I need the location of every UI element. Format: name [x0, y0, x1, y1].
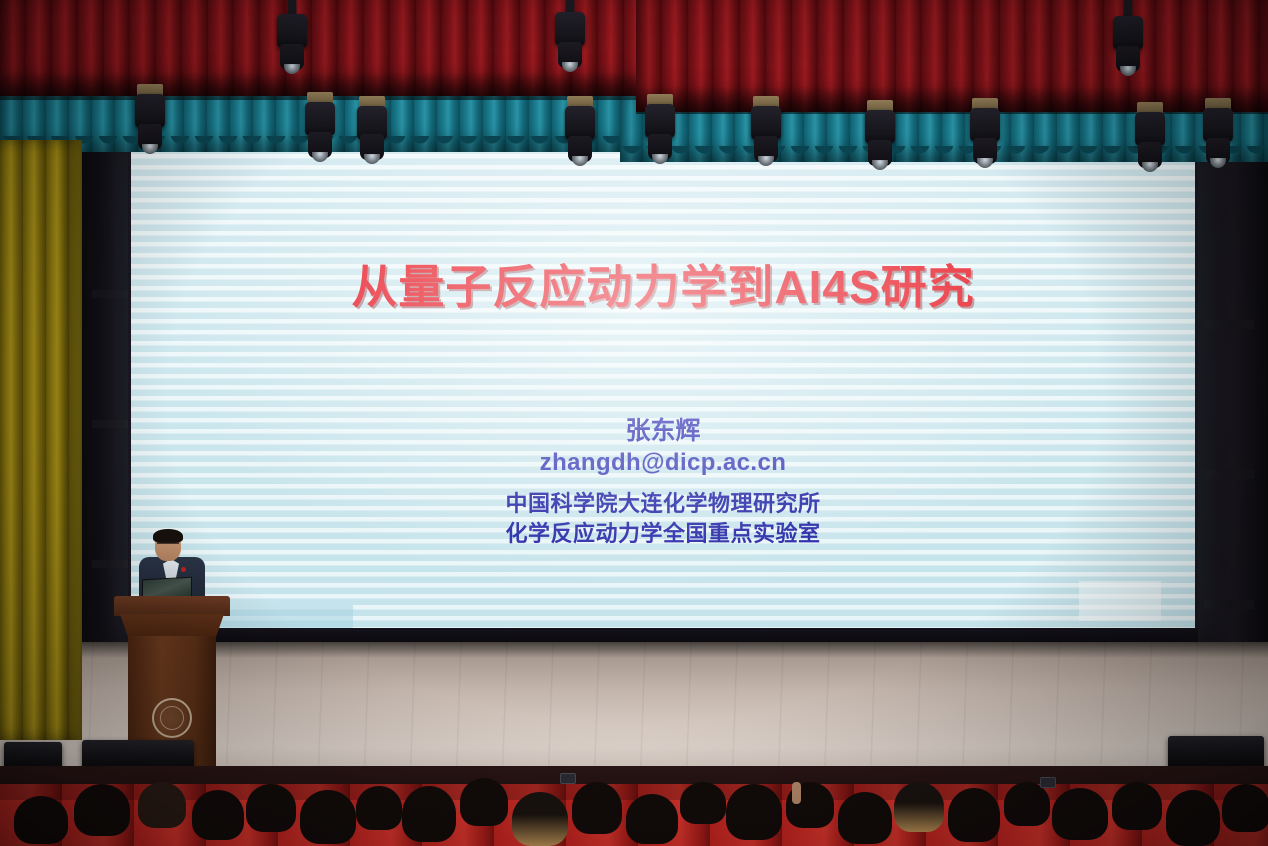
podium-top-surface [114, 596, 230, 616]
light-head [138, 124, 162, 150]
presenter-lapel-badge [181, 567, 186, 572]
light-head [1116, 46, 1140, 72]
audience-head [572, 782, 622, 834]
main-curtain-shadow [636, 86, 1268, 114]
slide-affiliation-laboratory: 化学反应动力学全国重点实验室 [131, 516, 1195, 548]
audience-head [356, 786, 402, 830]
light-body [970, 108, 1000, 142]
light-head [1138, 142, 1162, 168]
light-head [754, 136, 778, 162]
light-body [1135, 112, 1165, 146]
light-body [305, 102, 335, 136]
audience-head [894, 782, 944, 832]
backstage-truss-rig [1204, 470, 1254, 479]
light-body [1203, 108, 1233, 142]
audience-head [402, 786, 456, 842]
phone-recording [560, 773, 576, 784]
slide-title: 从量子反应动力学到AI4S研究 [131, 251, 1195, 317]
audience-head [948, 788, 1000, 842]
screen-surface: 从量子反应动力学到AI4S研究 张东辉 zhangdh@dicp.ac.cn 中… [131, 143, 1195, 637]
audience-head [192, 790, 244, 840]
led-presentation-screen: 从量子反应动力学到AI4S研究 张东辉 zhangdh@dicp.ac.cn 中… [128, 140, 1198, 640]
valance-scallop-edge [620, 146, 1268, 162]
raised-hand [792, 782, 801, 804]
screen-glow-overlay [131, 143, 1195, 637]
audience-head [838, 792, 892, 844]
audience-head [1004, 782, 1050, 826]
audience-head [512, 792, 568, 846]
slide-corner-patch-left [213, 605, 353, 629]
audience-head [74, 784, 130, 836]
light-body [865, 110, 895, 144]
audience-head [138, 782, 186, 828]
side-curtain-gold [0, 140, 82, 740]
slide-corner-patch-right [1079, 581, 1161, 621]
light-head [1206, 138, 1230, 164]
audience-head [1112, 782, 1162, 830]
audience-head [1166, 790, 1220, 846]
audience-head [726, 784, 782, 840]
slide-presenter-name: 张东辉 [131, 411, 1195, 447]
light-body [1113, 16, 1143, 50]
light-head [568, 136, 592, 162]
light-head [280, 44, 304, 70]
light-head [973, 138, 997, 164]
light-body [555, 12, 585, 46]
main-curtain-red-right-drop [636, 0, 1268, 112]
audience-head [626, 794, 678, 844]
glasses-icon [157, 542, 179, 547]
audience-head [1222, 784, 1268, 832]
presenter-hair [153, 529, 183, 543]
light-body [135, 94, 165, 128]
auditorium-stage-scene: 从量子反应动力学到AI4S研究 张东辉 zhangdh@dicp.ac.cn 中… [0, 0, 1268, 846]
podium-bevel [120, 614, 224, 638]
university-seal-emblem-icon [152, 698, 192, 738]
slide-affiliation-institute: 中国科学院大连化学物理研究所 [131, 486, 1195, 518]
light-head [558, 42, 582, 68]
light-body [645, 104, 675, 138]
audience-head [14, 796, 68, 844]
stage-monitor-speaker [1168, 736, 1264, 770]
backstage-truss-rig [1204, 600, 1254, 609]
audience-area [0, 766, 1268, 846]
light-head [308, 132, 332, 158]
light-body [751, 106, 781, 140]
light-body [277, 14, 307, 48]
light-head [648, 134, 672, 160]
audience-head [300, 790, 356, 844]
light-body [565, 106, 595, 140]
audience-head [246, 784, 296, 832]
backstage-truss-rig [1204, 320, 1254, 329]
phone-recording [1040, 777, 1056, 788]
slide-presenter-email: zhangdh@dicp.ac.cn [131, 449, 1195, 477]
audience-head [460, 778, 508, 826]
light-head [868, 140, 892, 166]
light-head [360, 134, 384, 160]
audience-head [1052, 788, 1108, 840]
audience-head [680, 782, 726, 824]
